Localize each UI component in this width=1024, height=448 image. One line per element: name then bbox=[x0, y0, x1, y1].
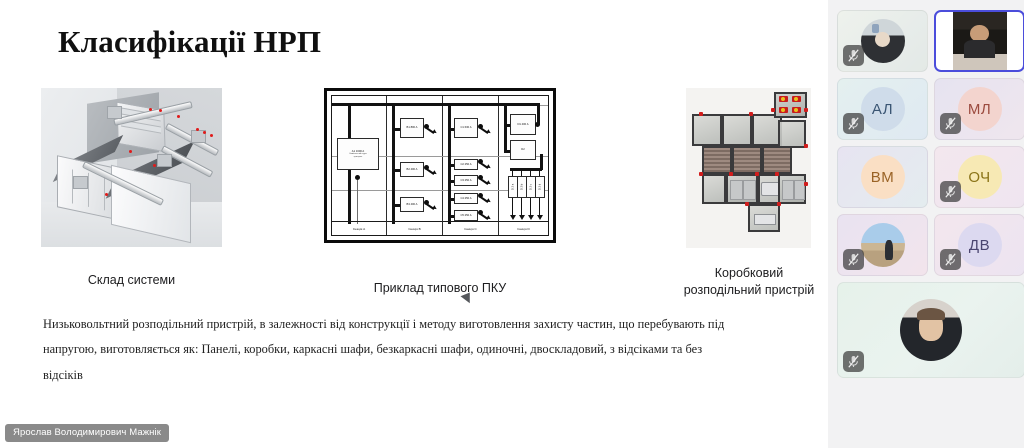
diagram-box-c1: C1 630 A bbox=[454, 118, 478, 138]
avatar-initials: МЛ bbox=[958, 87, 1002, 131]
diagram-box-c2: C2 250 A bbox=[454, 159, 478, 170]
caption-left: Склад системи bbox=[41, 272, 222, 289]
diagram-box-c5: C5 250 A bbox=[454, 210, 478, 221]
diagram-box-b1: B1 800 A bbox=[400, 118, 424, 138]
shared-slide: Класифікації НРП bbox=[0, 0, 828, 448]
participant-tile-5[interactable]: ВМ bbox=[837, 146, 928, 208]
diagram-box-d2: D2 bbox=[510, 140, 536, 160]
participant-grid: АЛ МЛ ВМ ОЧ bbox=[837, 10, 1024, 378]
diagram-box-a1: A1 1600 A Номінальний струмпристрою bbox=[337, 138, 379, 170]
diagram-box-d2d: D 2 d bbox=[535, 176, 545, 198]
avatar bbox=[900, 299, 962, 361]
diagram-box-c3: C3 250 A bbox=[454, 175, 478, 186]
slide-body-text: Низьковольтний розподільний пристрій, в … bbox=[43, 312, 743, 388]
avatar-initials: АЛ bbox=[861, 87, 905, 131]
mic-muted-icon[interactable] bbox=[843, 113, 864, 134]
caption-center: Приклад типового ПКУ bbox=[324, 280, 556, 297]
mic-muted-icon[interactable] bbox=[843, 45, 864, 66]
page-title: Класифікації НРП bbox=[58, 24, 321, 60]
meeting-screen-share-view: Класифікації НРП bbox=[0, 0, 1024, 448]
participant-tile-3[interactable]: АЛ bbox=[837, 78, 928, 140]
pku-schematic-diagram: A1 1600 A Номінальний струмпристрою B1 8… bbox=[324, 88, 556, 243]
substation-3d-render-image bbox=[41, 88, 222, 247]
diagram-section-c: Секція C bbox=[443, 221, 498, 235]
presenter-name-chip: Ярослав Володимирович Мажнік bbox=[5, 424, 169, 442]
mic-muted-icon[interactable] bbox=[940, 249, 961, 270]
diagram-section-a: Секція A bbox=[332, 221, 386, 235]
participant-tile-7[interactable] bbox=[837, 214, 928, 276]
diagram-box-b3: B3 400 A bbox=[400, 197, 424, 212]
avatar-initials: ВМ bbox=[861, 155, 905, 199]
participant-tile-6[interactable]: ОЧ bbox=[934, 146, 1024, 208]
diagram-box-b2: B2 400 A bbox=[400, 162, 424, 177]
participant-tile-9[interactable] bbox=[837, 282, 1024, 378]
avatar-initials: ОЧ bbox=[958, 155, 1002, 199]
participant-tile-8[interactable]: ДВ bbox=[934, 214, 1024, 276]
participant-tile-1[interactable] bbox=[837, 10, 928, 72]
caption-right-line1: Коробковий bbox=[715, 266, 783, 280]
diagram-section-b: Секція B bbox=[387, 221, 442, 235]
video-stream bbox=[953, 12, 1007, 70]
diagram-box-c4: C4 250 A bbox=[454, 193, 478, 204]
avatar-initials: ДВ bbox=[958, 223, 1002, 267]
mic-muted-icon[interactable] bbox=[843, 249, 864, 270]
caption-right-line2: розподільний пристрій bbox=[684, 283, 815, 297]
participants-rail[interactable]: АЛ МЛ ВМ ОЧ bbox=[828, 0, 1024, 448]
participant-tile-2[interactable] bbox=[934, 10, 1024, 72]
avatar bbox=[861, 19, 905, 63]
participant-tile-4[interactable]: МЛ bbox=[934, 78, 1024, 140]
diagram-box-d1: D1 400 A bbox=[510, 114, 536, 135]
mic-muted-icon[interactable] bbox=[843, 351, 864, 372]
box-distribution-board-image bbox=[686, 88, 811, 248]
avatar bbox=[861, 223, 905, 267]
mic-muted-icon[interactable] bbox=[940, 181, 961, 202]
caption-right: Коробковий розподільний пристрій bbox=[668, 265, 830, 299]
diagram-section-d: Секція D bbox=[499, 221, 548, 235]
mic-muted-icon[interactable] bbox=[940, 113, 961, 134]
